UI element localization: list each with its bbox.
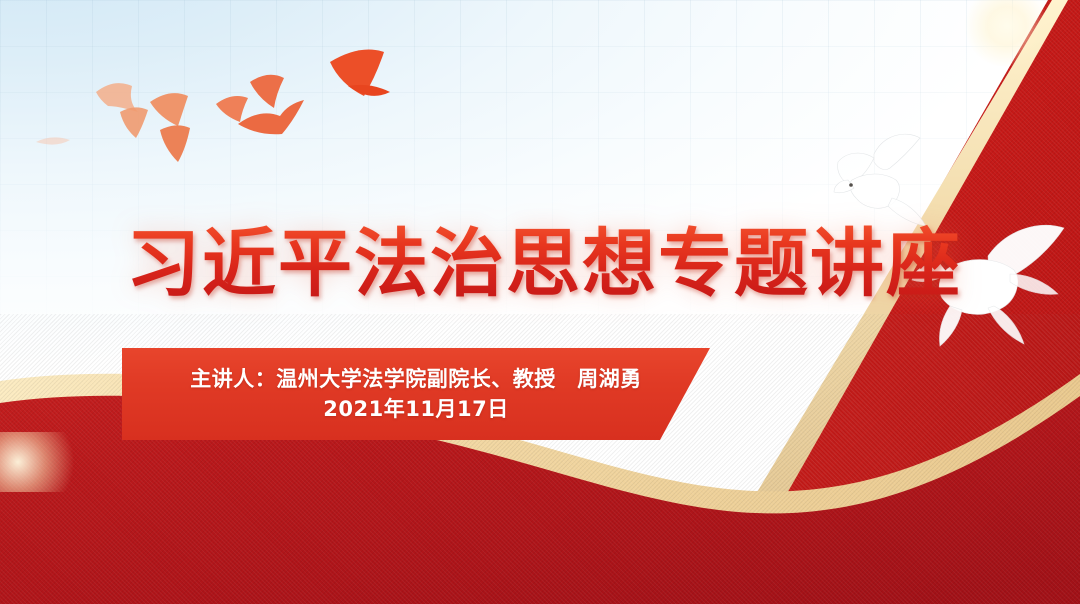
date-line: 2021年11月17日 [323, 394, 508, 424]
light-spark-icon [0, 432, 90, 492]
subtitle-banner-text: 主讲人：温州大学法学院副院长、教授 周湖勇 2021年11月17日 [122, 348, 710, 440]
page-title: 习近平法治思想专题讲座 [0, 222, 1080, 306]
flying-birds-icon [0, 0, 420, 190]
poster-canvas: 习近平法治思想专题讲座 主讲人：温州大学法学院副院长、教授 周湖勇 2021年1… [0, 0, 1080, 604]
light-spark-icon [962, 0, 1052, 66]
speaker-line: 主讲人：温州大学法学院副院长、教授 周湖勇 [190, 364, 642, 394]
